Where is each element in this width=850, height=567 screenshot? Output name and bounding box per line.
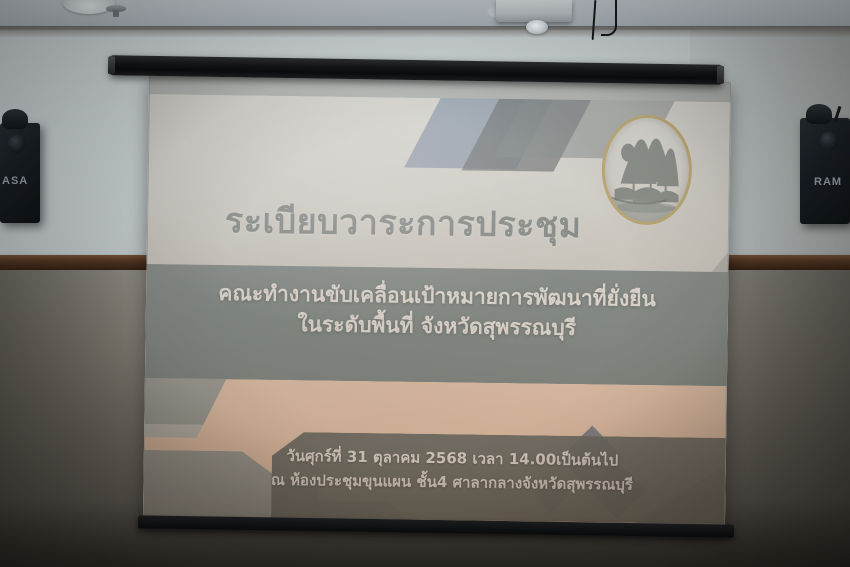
scene-root: ASA RAM xyxy=(0,0,850,567)
slide-title: ระเบียบวาระการประชุม xyxy=(147,192,660,253)
projector-cable-loop xyxy=(601,0,617,36)
projector-screen: ระเบียบวาระการประชุม คณะทำงานขับเคลื่อนเ… xyxy=(143,74,731,534)
speaker-driver-icon-right xyxy=(820,132,838,150)
presentation-slide: ระเบียบวาระการประชุม คณะทำงานขับเคลื่อนเ… xyxy=(143,74,731,534)
slide-subtitle: คณะทำงานขับเคลื่อนเป้าหมายการพัฒนาที่ยั่… xyxy=(146,278,729,346)
speaker-mount-bracket xyxy=(2,109,28,129)
speaker-driver-icon xyxy=(8,135,26,153)
speaker-mount-bracket-right xyxy=(806,104,832,124)
speaker-brand-label-left: ASA xyxy=(2,175,28,187)
wall-speaker-left: ASA xyxy=(0,123,40,223)
projector-lens-icon xyxy=(526,20,548,34)
housing-end-cap-right xyxy=(717,66,724,84)
wall-speaker-right: RAM xyxy=(800,118,850,224)
slide-meta: วันศุกร์ที่ 31 ตุลาคม 2568 เวลา 14.00เป็… xyxy=(202,443,703,499)
housing-end-cap-left xyxy=(108,56,115,74)
speaker-brand-label-right: RAM xyxy=(814,176,842,188)
ceiling-shadow xyxy=(0,26,850,38)
fire-sprinkler-icon xyxy=(106,5,126,12)
ceiling-projector xyxy=(496,0,572,22)
